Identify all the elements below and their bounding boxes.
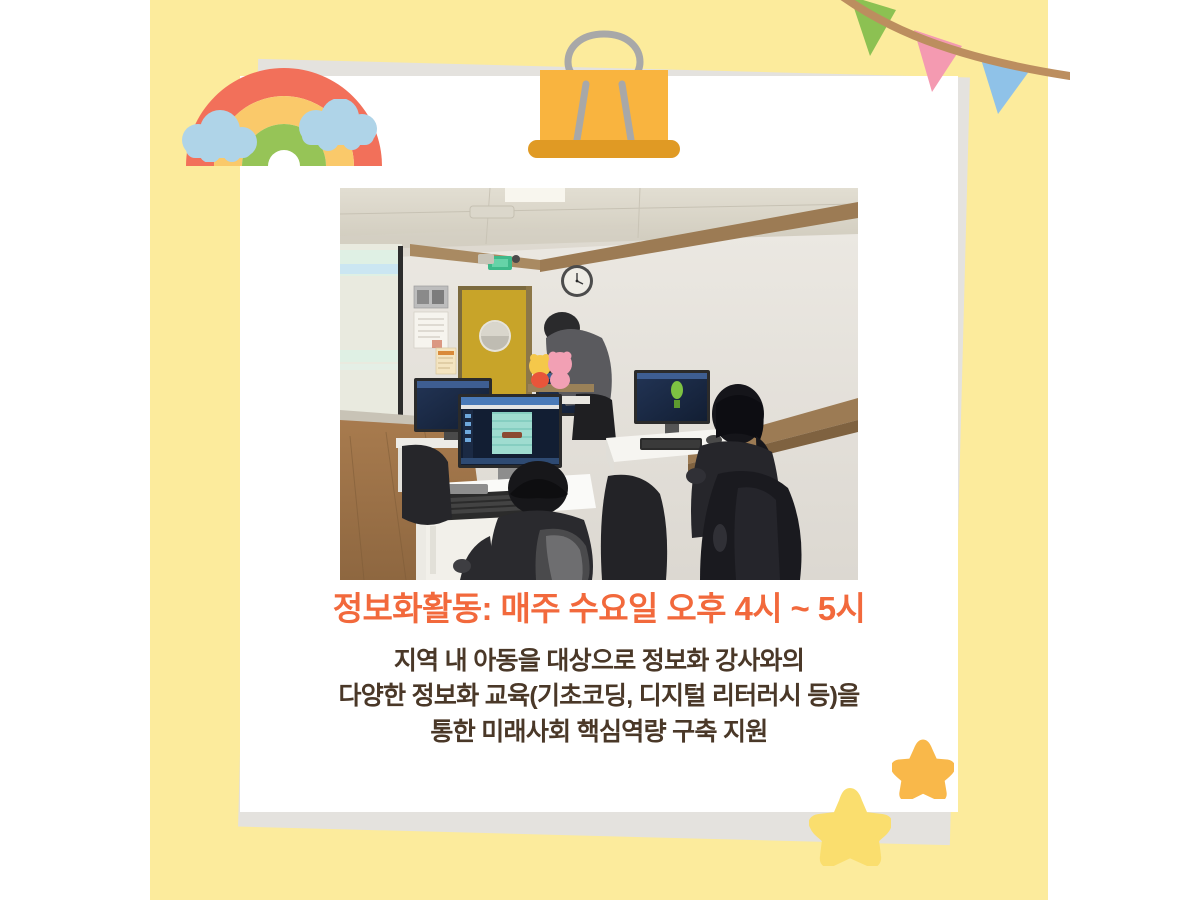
bunting-flags-icon bbox=[840, 0, 1070, 144]
cloud-icon bbox=[176, 110, 262, 162]
description-line-1: 지역 내 아동을 대상으로 정보화 강사와의 bbox=[240, 644, 958, 680]
text-content-block: 정보화활동: 매주 수요일 오후 4시 ~ 5시 지역 내 아동을 대상으로 정… bbox=[240, 590, 958, 750]
binder-clip-icon bbox=[516, 26, 692, 162]
poster-canvas: 정보화활동: 매주 수요일 오후 4시 ~ 5시 지역 내 아동을 대상으로 정… bbox=[0, 0, 1200, 900]
cloud-icon bbox=[292, 99, 382, 151]
star-icon bbox=[809, 786, 891, 866]
computer-classroom-photo bbox=[340, 188, 858, 580]
description-line-3: 통한 미래사회 핵심역량 구축 지원 bbox=[240, 715, 958, 751]
description-line-2: 다양한 정보화 교육(기초코딩, 디지털 리터러시 등)을 bbox=[240, 679, 958, 715]
headline-title: 정보화활동: 매주 수요일 오후 4시 ~ 5시 bbox=[240, 590, 958, 628]
